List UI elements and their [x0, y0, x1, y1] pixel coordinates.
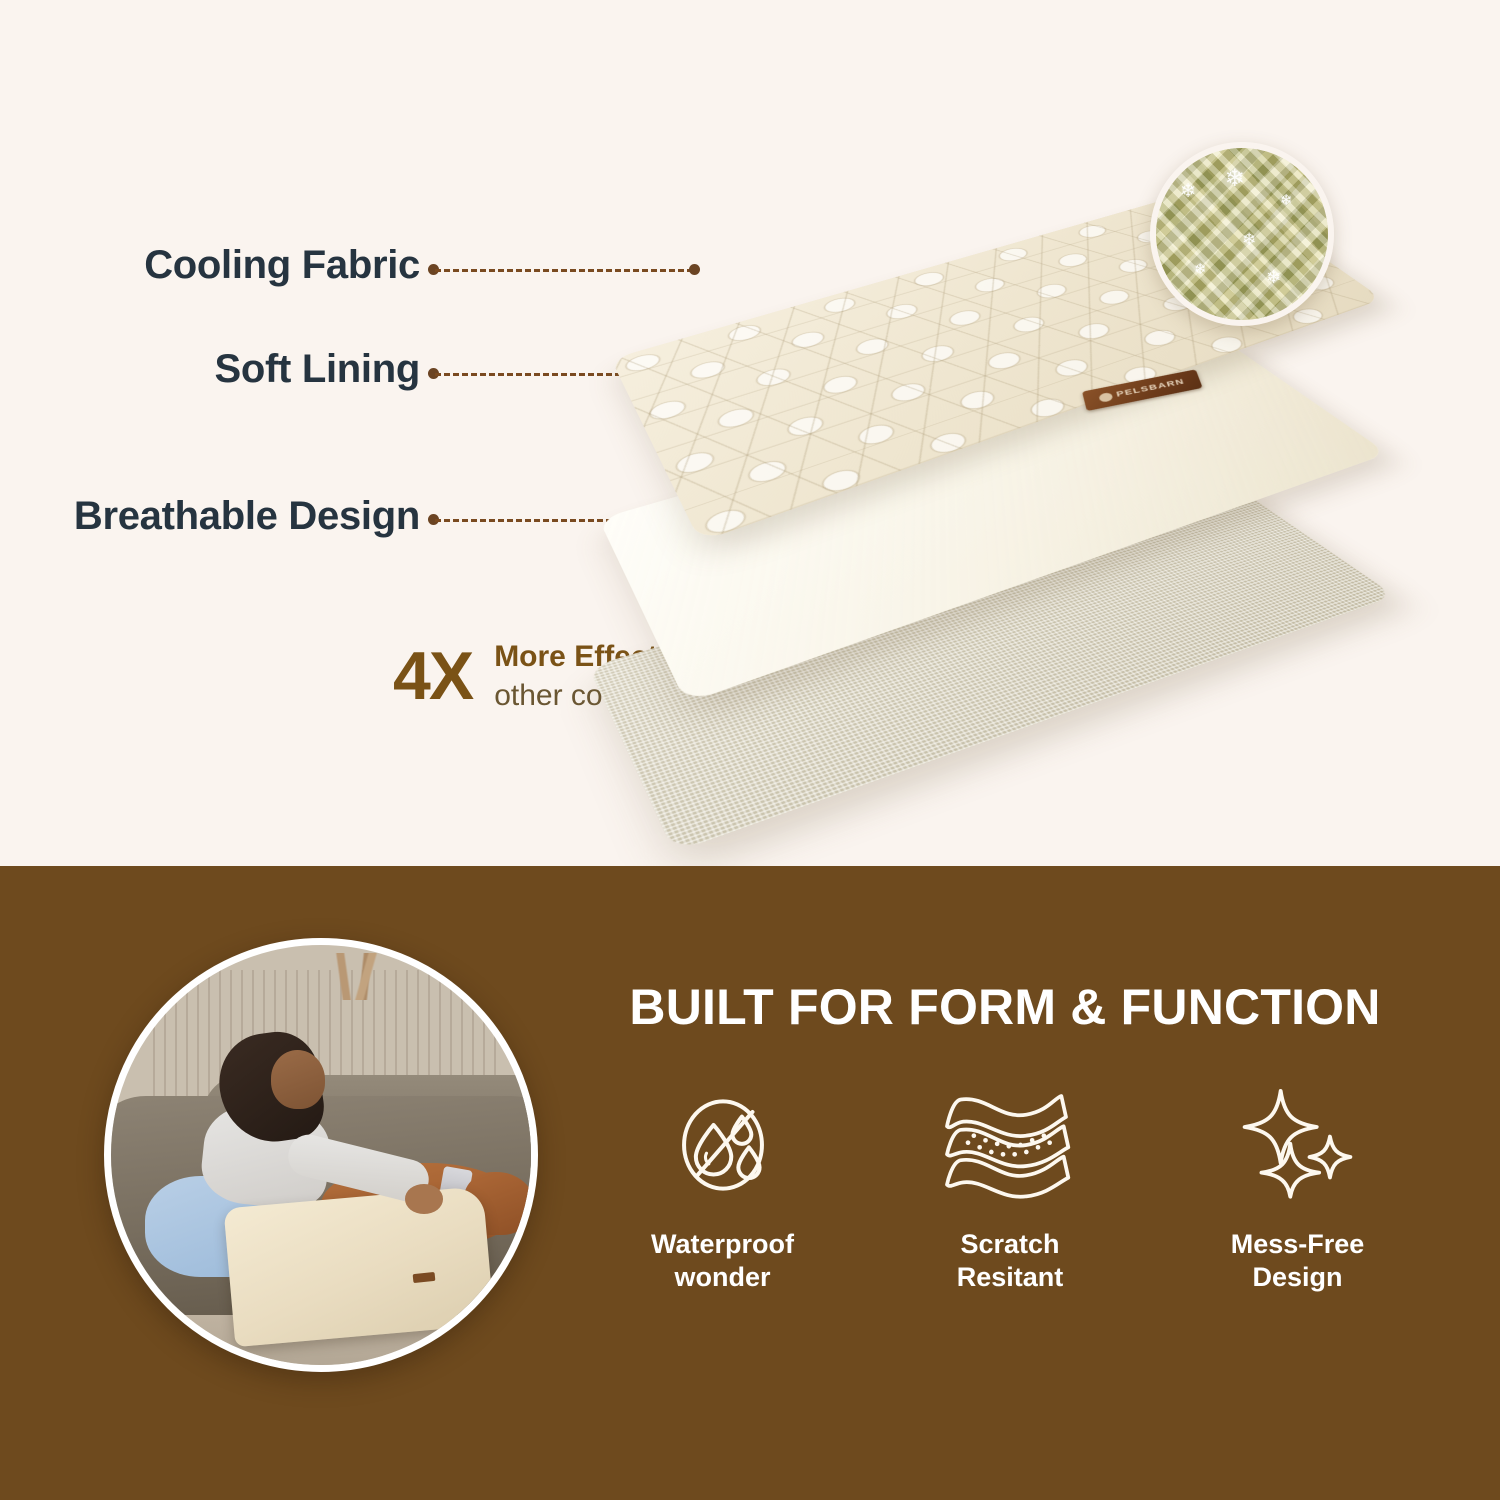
- feature-label-line1: Waterproof: [651, 1229, 794, 1259]
- claim-multiplier: 4X: [393, 642, 472, 710]
- snowflake-icon: ❄: [1242, 231, 1256, 248]
- fabric-macro-bubble: ❄ ❄ ❄ ❄ ❄ ❄: [1150, 142, 1334, 326]
- woman-head: [271, 1050, 326, 1109]
- branch-wall-art: [254, 953, 447, 999]
- feature-scratch-resistant: Scratch Resitant: [888, 1080, 1133, 1294]
- lifestyle-photo: [104, 938, 538, 1372]
- feature-list: Waterproof wonder: [600, 1080, 1420, 1294]
- sparkles-icon: [1235, 1080, 1360, 1210]
- layer-label-cooling-fabric: Cooling Fabric: [0, 243, 420, 288]
- layers-section: Cooling Fabric Soft Lining Breathable De…: [0, 0, 1500, 866]
- feature-label-line2: Design: [1252, 1262, 1342, 1292]
- mat-brand-tag-in-photo: [413, 1271, 436, 1282]
- feature-label-line2: Resitant: [957, 1262, 1064, 1292]
- snowflake-icon: ❄: [1280, 193, 1293, 208]
- feature-waterproof: Waterproof wonder: [600, 1080, 845, 1294]
- feature-label-mess-free: Mess-Free Design: [1231, 1228, 1365, 1294]
- product-infographic: Cooling Fabric Soft Lining Breathable De…: [0, 0, 1500, 1500]
- wavy-fabric-layers-icon: [940, 1080, 1080, 1210]
- layer-label-soft-lining: Soft Lining: [0, 347, 420, 392]
- snowflake-icon: ❄: [1194, 262, 1207, 277]
- feature-mess-free: Mess-Free Design: [1175, 1080, 1420, 1294]
- layer-label-breathable-design: Breathable Design: [0, 494, 420, 539]
- snowflake-icon: ❄: [1180, 182, 1196, 201]
- snowflake-icon: ❄: [1266, 268, 1281, 286]
- water-drops-no-slash-icon: [664, 1080, 782, 1210]
- feature-label-line1: Mess-Free: [1231, 1229, 1365, 1259]
- cooling-mat-in-photo: [223, 1186, 494, 1347]
- mat-layer-stack: PELSBARN ❄ ❄ ❄ ❄ ❄ ❄: [600, 120, 1500, 820]
- feature-label-line1: Scratch: [960, 1229, 1059, 1259]
- feature-label-scratch-resistant: Scratch Resitant: [957, 1228, 1064, 1294]
- feature-label-waterproof: Waterproof wonder: [651, 1228, 794, 1294]
- snowflake-icon: ❄: [1225, 167, 1245, 191]
- features-title: BUILT FOR FORM & FUNCTION: [560, 982, 1450, 1032]
- feature-label-line2: wonder: [674, 1262, 770, 1292]
- layer-labels: Cooling Fabric Soft Lining Breathable De…: [0, 0, 420, 700]
- woman-hand: [405, 1184, 443, 1213]
